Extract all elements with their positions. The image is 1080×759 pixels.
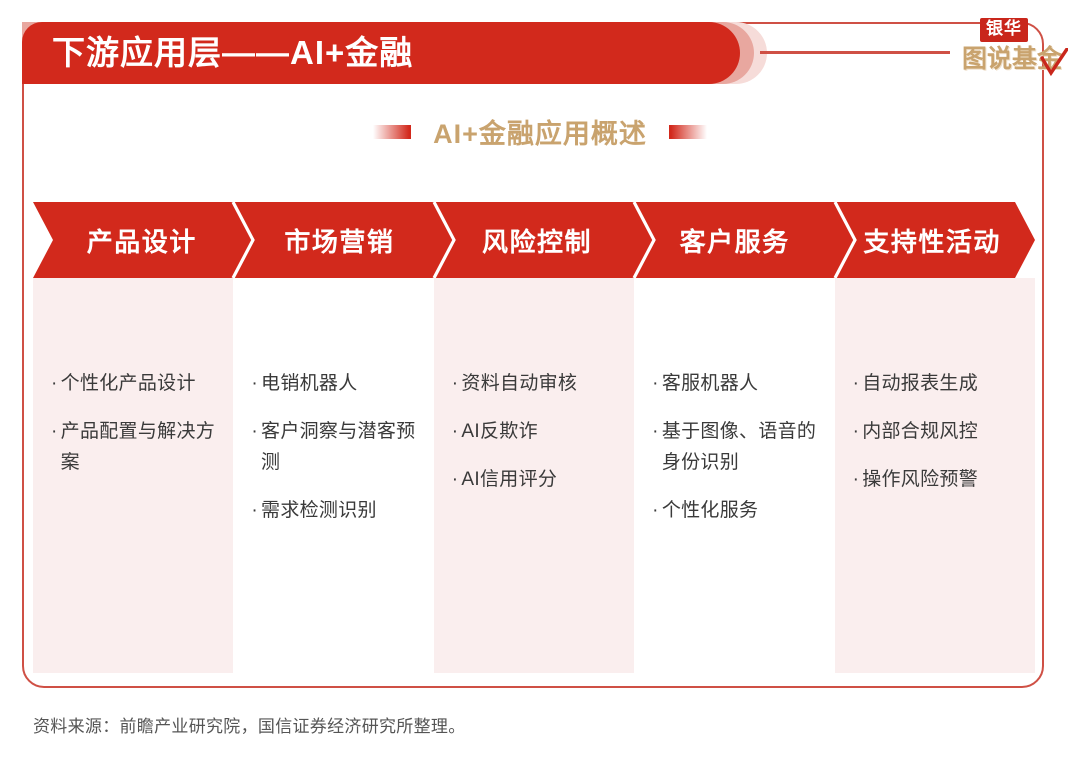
infographic-root: 下游应用层——AI+金融 银华 图说基金 AI+金融应用概述 产品设计 市场营销…	[0, 0, 1080, 759]
column-customer-service: ·客服机器人 ·基于图像、语音的身份识别 ·个性化服务	[634, 278, 834, 673]
list-item: ·自动报表生成	[853, 368, 1019, 399]
page-title: 下游应用层——AI+金融	[52, 30, 413, 76]
bullet-icon: ·	[652, 416, 659, 478]
chevron-label-5: 支持性活动	[833, 202, 1035, 278]
checkmark-icon	[1040, 48, 1068, 78]
subtitle-row: AI+金融应用概述	[0, 112, 1080, 151]
list-item-label: 客户洞察与潜客预测	[261, 416, 418, 478]
column-product-design: ·个性化产品设计 ·产品配置与解决方案	[33, 278, 233, 673]
list-item: ·内部合规风控	[853, 416, 1019, 447]
bullet-icon: ·	[452, 416, 459, 447]
section-subtitle: AI+金融应用概述	[433, 112, 647, 151]
chevron-label-1: 产品设计	[33, 202, 241, 278]
bullet-icon: ·	[853, 368, 860, 399]
list-item: ·资料自动审核	[452, 368, 618, 399]
source-note: 资料来源：前瞻产业研究院，国信证券经济研究所整理。	[33, 712, 466, 737]
chevron-banner: 产品设计 市场营销 风险控制 客户服务 支持性活动	[33, 202, 1035, 278]
list-item: ·AI信用评分	[452, 464, 618, 495]
list-item: ·AI反欺诈	[452, 416, 618, 447]
list-item-label: 基于图像、语音的身份识别	[662, 416, 819, 478]
list-item: ·电销机器人	[251, 368, 417, 399]
list-item-label: 自动报表生成	[862, 368, 1019, 399]
bullet-icon: ·	[251, 416, 258, 478]
column-support-activities: ·自动报表生成 ·内部合规风控 ·操作风险预警	[835, 278, 1035, 673]
column-marketing: ·电销机器人 ·客户洞察与潜客预测 ·需求检测识别	[233, 278, 433, 673]
bullet-icon: ·	[853, 464, 860, 495]
logo-company-name: 银华	[980, 18, 1028, 42]
list-item-label: 操作风险预警	[862, 464, 1019, 495]
bullet-icon: ·	[251, 495, 258, 526]
list-item: ·操作风险预警	[853, 464, 1019, 495]
list-item: ·客户洞察与潜客预测	[251, 416, 417, 478]
list-item-label: 个性化服务	[662, 495, 819, 526]
list-item: ·个性化产品设计	[51, 368, 217, 399]
list-item-label: AI反欺诈	[461, 416, 618, 447]
list-item-label: 产品配置与解决方案	[61, 416, 218, 478]
bullet-icon: ·	[51, 368, 58, 399]
column-risk-control: ·资料自动审核 ·AI反欺诈 ·AI信用评分	[434, 278, 634, 673]
list-item: ·产品配置与解决方案	[51, 416, 217, 478]
list-item-label: AI信用评分	[461, 464, 618, 495]
bullet-icon: ·	[251, 368, 258, 399]
bullet-icon: ·	[51, 416, 58, 478]
bullet-icon: ·	[652, 368, 659, 399]
dash-right-decoration	[669, 125, 707, 139]
list-item-label: 需求检测识别	[261, 495, 418, 526]
dash-left-decoration	[373, 125, 411, 139]
list-item: ·基于图像、语音的身份识别	[652, 416, 818, 478]
bullet-icon: ·	[652, 495, 659, 526]
list-item: ·需求检测识别	[251, 495, 417, 526]
brand-logo: 银华 图说基金	[966, 18, 1062, 84]
header-rule	[760, 51, 950, 54]
list-item-label: 内部合规风控	[862, 416, 1019, 447]
columns-container: ·个性化产品设计 ·产品配置与解决方案 ·电销机器人 ·客户洞察与潜客预测 ·需…	[33, 278, 1035, 673]
bullet-icon: ·	[853, 416, 860, 447]
chevron-label-4: 客户服务	[636, 202, 834, 278]
list-item-label: 资料自动审核	[461, 368, 618, 399]
chevron-label-row: 产品设计 市场营销 风险控制 客户服务 支持性活动	[33, 202, 1035, 278]
bullet-icon: ·	[452, 464, 459, 495]
chevron-label-2: 市场营销	[241, 202, 439, 278]
chevron-label-3: 风险控制	[438, 202, 636, 278]
list-item: ·客服机器人	[652, 368, 818, 399]
list-item-label: 个性化产品设计	[61, 368, 218, 399]
bullet-icon: ·	[452, 368, 459, 399]
list-item: ·个性化服务	[652, 495, 818, 526]
list-item-label: 客服机器人	[662, 368, 819, 399]
list-item-label: 电销机器人	[261, 368, 418, 399]
